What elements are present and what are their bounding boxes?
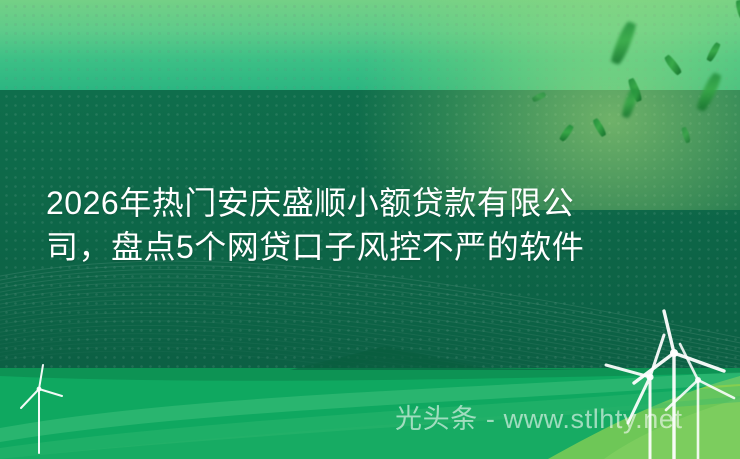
leaf-icon — [559, 124, 575, 143]
leaf-icon — [531, 91, 546, 103]
promo-banner: 光头条 - www.stlhty.net 2026年热门安庆盛顺小额贷款有限公司… — [0, 0, 740, 459]
leaf-icon — [621, 87, 640, 119]
leaf-icon — [695, 71, 723, 112]
leaf-icon — [681, 126, 692, 143]
title-line-1: 2026年热门安庆盛顺小额贷款有限公 — [46, 185, 574, 221]
site-watermark: 光头条 - www.stlhty.net — [395, 404, 683, 434]
leaf-icon — [706, 42, 722, 63]
title-line-2: 司，盘点5个网贷口子风控不严的软件 — [46, 229, 584, 265]
leaf-icon — [592, 118, 608, 138]
falling-leaves-group — [0, 0, 740, 200]
leaf-icon — [609, 20, 638, 66]
page-title: 2026年热门安庆盛顺小额贷款有限公司，盘点5个网贷口子风控不严的软件 — [46, 181, 706, 269]
leaf-icon — [735, 0, 740, 19]
leaf-icon — [663, 54, 683, 76]
